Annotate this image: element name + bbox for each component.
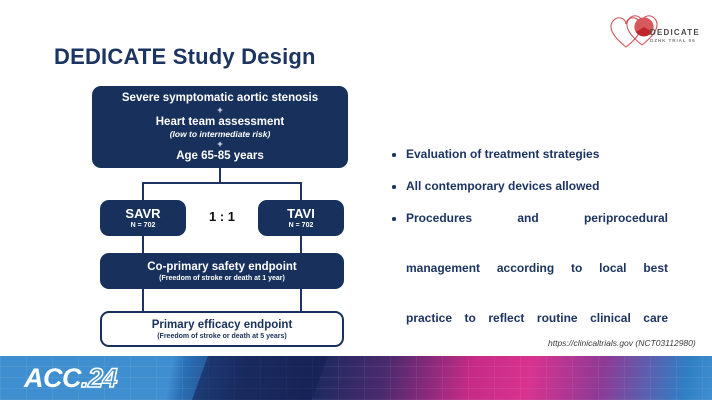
randomization-ratio: 1 : 1 (196, 209, 248, 224)
list-item: Evaluation of treatment strategies (390, 142, 668, 167)
arm-tavi-n: N = 702 (289, 221, 314, 230)
slide-canvas: DEDICATE Study Design DEDICATE DZHK TRIA… (0, 0, 712, 400)
inclusion-plus-2: + (217, 139, 222, 149)
connector-split (142, 182, 302, 184)
inclusion-line-3: Age 65-85 years (176, 149, 264, 163)
safety-endpoint-note: (Freedom of stroke or death at 1 year) (159, 274, 285, 283)
efficacy-endpoint-title: Primary efficacy endpoint (152, 318, 293, 332)
logo-wordmark: DEDICATE (650, 28, 700, 37)
inclusion-plus-1: + (217, 105, 222, 115)
efficacy-endpoint-note: (Freedom of stroke or death at 5 years) (157, 332, 287, 341)
connector-tavi-to-safety (300, 236, 302, 253)
inclusion-line-2: Heart team assessment (156, 115, 285, 129)
connector-safety-to-efficacy-right (300, 289, 302, 311)
arm-tavi-name: TAVI (287, 206, 315, 221)
connector-to-savr (142, 182, 144, 200)
arm-tavi-box: TAVI N = 702 (258, 200, 344, 236)
connector-to-tavi (300, 182, 302, 200)
efficacy-endpoint-box: Primary efficacy endpoint (Freedom of st… (100, 311, 344, 347)
key-points-list: Evaluation of treatment strategies All c… (390, 142, 668, 363)
source-citation: https://clinicaltrials.gov (NCT03112980) (548, 338, 696, 348)
list-item-line: Procedures and periprocedural (406, 206, 668, 256)
acc24-footer-banner: ACC .24 (0, 356, 712, 400)
list-item-line: management according to local best (406, 256, 668, 306)
acc24-brand: ACC (24, 363, 81, 393)
list-item: Procedures and periprocedural management… (390, 206, 668, 356)
acc24-year: .24 (81, 363, 117, 393)
inclusion-risk-note: (low to intermediate risk) (170, 129, 271, 139)
logo-subtitle: DZHK TRIAL 06 (650, 38, 696, 43)
dedicate-logo: DEDICATE DZHK TRIAL 06 (604, 10, 704, 52)
acc24-logo: ACC .24 (24, 363, 117, 393)
inclusion-criteria-box: Severe symptomatic aortic stenosis + Hea… (92, 86, 348, 168)
list-item: All contemporary devices allowed (390, 174, 668, 199)
safety-endpoint-box: Co-primary safety endpoint (Freedom of s… (100, 253, 344, 289)
connector-safety-to-efficacy-left (142, 289, 144, 311)
footer-shard-accent (192, 356, 328, 400)
arm-savr-n: N = 702 (131, 221, 156, 230)
arm-savr-name: SAVR (125, 206, 160, 221)
safety-endpoint-title: Co-primary safety endpoint (147, 260, 297, 274)
connector-savr-to-safety (142, 236, 144, 253)
arm-savr-box: SAVR N = 702 (100, 200, 186, 236)
list-item-line: practice to reflect routine clinical car… (406, 306, 668, 356)
inclusion-line-1: Severe symptomatic aortic stenosis (122, 91, 318, 105)
study-design-flowchart: Severe symptomatic aortic stenosis + Hea… (0, 0, 380, 360)
